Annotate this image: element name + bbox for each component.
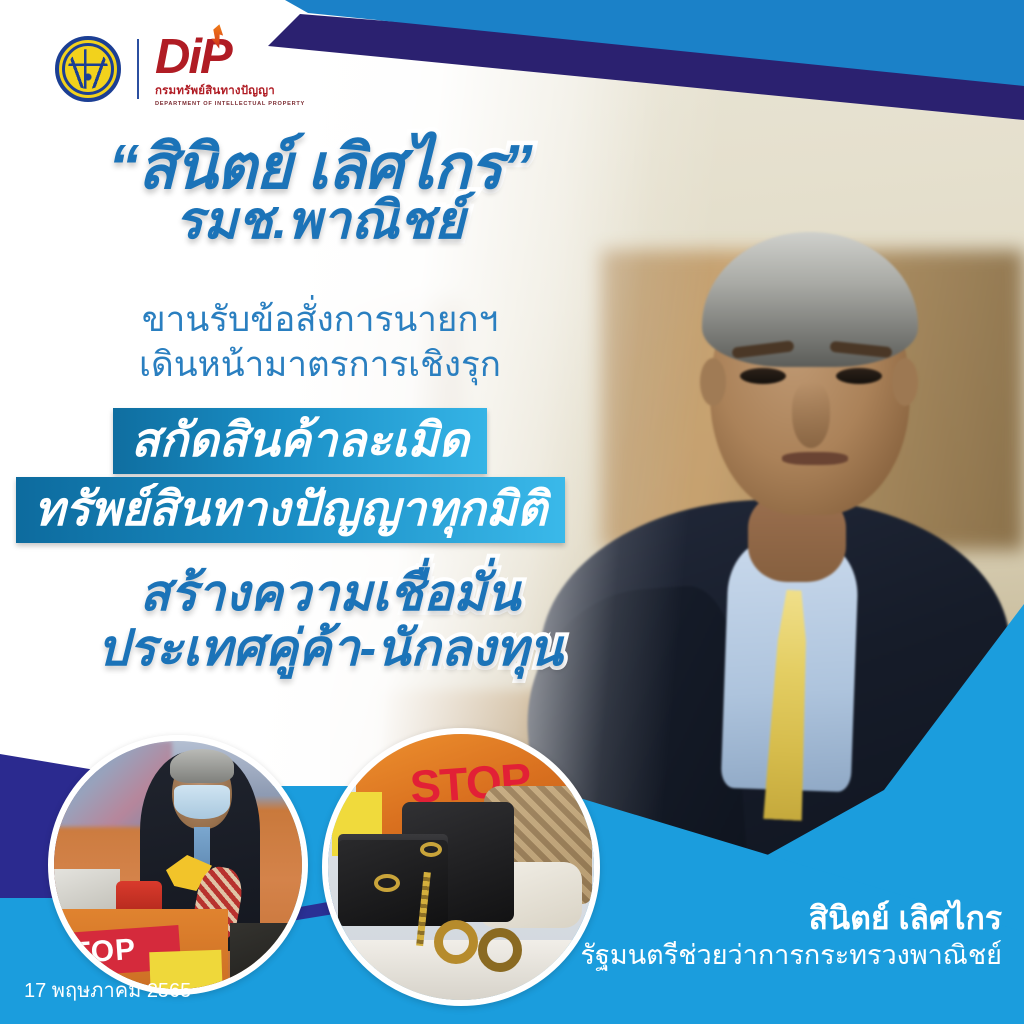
dip-thai-name: กรมทรัพย์สินทางปัญญา bbox=[155, 82, 305, 100]
headline-block: “สินิตย์ เลิศไกร” รมช.พาณิชย์ bbox=[0, 136, 640, 248]
stop-label-1: TOP bbox=[71, 933, 137, 971]
dark-goods-pile bbox=[230, 923, 308, 995]
nameplate-title: รัฐมนตรีช่วยว่าการกระทรวงพาณิชย์ bbox=[581, 938, 1002, 972]
headline2-block: สร้างความเชื่อมั่น ประเทศคู่ค้า-นักลงทุน bbox=[0, 566, 660, 676]
belt-buckle-2 bbox=[478, 928, 522, 972]
headline-line-1: “สินิตย์ เลิศไกร” bbox=[0, 136, 640, 199]
headline-line-2: รมช.พาณิชย์ bbox=[0, 195, 640, 248]
headline2-line-1: สร้างความเชื่อมั่น bbox=[0, 566, 660, 621]
circle-photo-counterfeit-bags: STOP bbox=[322, 728, 600, 1006]
subheadline-line-1: ขานรับข้อสั่งการนายกฯ bbox=[0, 298, 640, 343]
interlocking-logo-2 bbox=[420, 842, 442, 857]
logo-divider bbox=[137, 39, 139, 99]
banner-line-2: ทรัพย์สินทางปัญญาทุกมิติ bbox=[16, 477, 565, 543]
nameplate-name: สินิตย์ เลิศไกร bbox=[581, 899, 1002, 938]
circle-photo-inspection: TOP bbox=[48, 735, 308, 995]
belt-buckle-1 bbox=[434, 920, 478, 964]
poster-canvas: DiP กรมทรัพย์สินทางปัญญา DEPARTMENT OF I… bbox=[0, 0, 1024, 1024]
banner-line-1: สกัดสินค้าละเมิด bbox=[113, 408, 487, 474]
inspector-hair bbox=[170, 749, 234, 783]
garuda-seal-icon bbox=[55, 36, 121, 102]
logo-lockup: DiP กรมทรัพย์สินทางปัญญา DEPARTMENT OF I… bbox=[55, 30, 305, 107]
publish-date: 17 พฤษภาคม 2565 bbox=[24, 974, 191, 1006]
dip-english-name: DEPARTMENT OF INTELLECTUAL PROPERTY bbox=[155, 101, 305, 107]
dip-logo: DiP กรมทรัพย์สินทางปัญญา DEPARTMENT OF I… bbox=[155, 30, 305, 107]
nameplate: สินิตย์ เลิศไกร รัฐมนตรีช่วยว่าการกระทรว… bbox=[581, 899, 1002, 972]
subheadline-block: ขานรับข้อสั่งการนายกฯ เดินหน้ามาตรการเชิ… bbox=[0, 298, 640, 388]
face-mask-icon bbox=[174, 785, 230, 819]
subheadline-line-2: เดินหน้ามาตรการเชิงรุก bbox=[0, 343, 640, 388]
headline2-line-2: ประเทศคู่ค้า-นักลงทุน bbox=[0, 621, 660, 676]
banner-block: สกัดสินค้าละเมิด ทรัพย์สินทางปัญญาทุกมิต… bbox=[0, 408, 660, 543]
dip-brand-text: DiP bbox=[155, 34, 305, 81]
interlocking-logo-1 bbox=[374, 874, 400, 892]
